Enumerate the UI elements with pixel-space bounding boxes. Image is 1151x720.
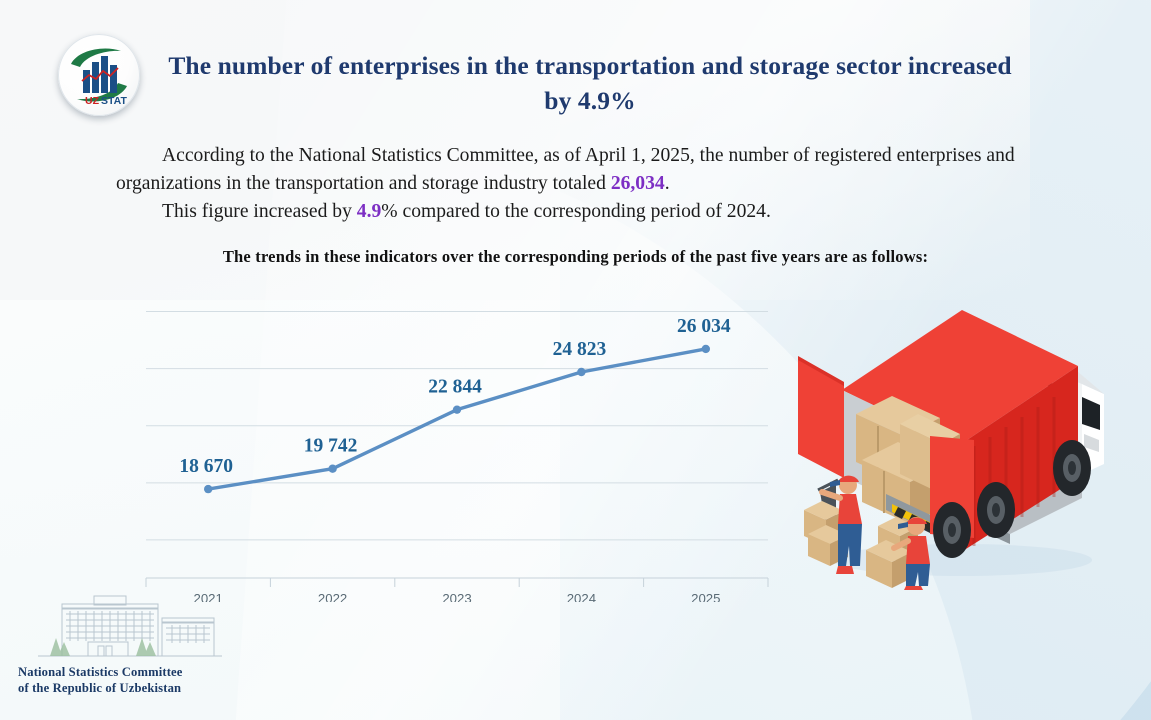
worker-carrying-box	[866, 517, 930, 590]
worker-1-shoes	[836, 566, 854, 574]
cargo-door-left	[798, 356, 844, 478]
logo-wordmark-stat: STAT	[101, 95, 127, 107]
worker-2-shoes	[904, 586, 923, 590]
trend-line-chart: 18 67019 74222 84424 82326 034 202120222…	[140, 292, 780, 602]
paragraph-line-1: According to the National Statistics Com…	[116, 142, 1051, 198]
growth-percent-value: 4.9	[357, 201, 382, 222]
truck-wheel-rear	[933, 502, 971, 558]
chart-data-label: 24 823	[553, 339, 607, 360]
footer-line-1: National Statistics Committee	[18, 664, 238, 680]
paragraph-text-b: .	[665, 173, 670, 194]
paragraph-text-d: % compared to the corresponding period o…	[381, 201, 771, 222]
chart-data-label: 19 742	[304, 436, 358, 457]
chart-gridlines	[146, 312, 768, 540]
committee-building-icon	[32, 592, 224, 664]
enterprise-count-value: 26,034	[611, 173, 665, 194]
chart-markers	[204, 345, 710, 494]
paragraph-text-a: According to the National Statistics Com…	[116, 145, 1015, 194]
worker-1-cap-brim	[830, 480, 840, 487]
truck-wheel-middle	[977, 482, 1015, 538]
uzstat-logo-graphic: UZ STAT	[58, 34, 140, 116]
footer-organisation-name: National Statistics Committee of the Rep…	[18, 664, 238, 696]
paragraph-text-c: This figure increased by	[162, 201, 357, 222]
logo-wordmark-uz: UZ	[85, 95, 100, 107]
uzstat-logo: UZ STAT	[58, 34, 140, 116]
delivery-truck-illustration	[782, 298, 1114, 590]
footer-line-2: of the Republic of Uzbekistan	[18, 680, 238, 696]
chart-x-axis-labels: 20212022202320242025	[194, 591, 721, 602]
worker-1-legs	[838, 524, 862, 566]
chart-data-labels: 18 67019 74222 84424 82326 034	[179, 316, 730, 477]
truck-svg	[782, 298, 1114, 590]
chart-data-label: 22 844	[428, 377, 482, 398]
chart-data-label: 26 034	[677, 316, 731, 337]
page-title: The number of enterprises in the transpo…	[155, 48, 1025, 118]
building-trees	[50, 638, 156, 656]
chart-x-label: 2023	[442, 591, 471, 602]
infographic-canvas: UZ STAT The number of enterprises in the…	[0, 0, 1151, 720]
chart-x-label: 2022	[318, 591, 347, 602]
chart-tick-marks	[146, 578, 768, 587]
summary-paragraph: According to the National Statistics Com…	[116, 142, 1051, 226]
chart-x-label: 2024	[567, 591, 596, 602]
truck-wheel-front	[1053, 440, 1091, 496]
worker-with-hand-truck	[804, 476, 862, 574]
paragraph-line-2: This figure increased by 4.9% compared t…	[116, 198, 1051, 226]
chart-subtitle: The trends in these indicators over the …	[0, 247, 1151, 267]
chart-svg: 18 67019 74222 84424 82326 034 202120222…	[140, 292, 780, 602]
chart-series-line	[208, 349, 706, 489]
chart-x-label: 2025	[691, 591, 720, 602]
footer: National Statistics Committee of the Rep…	[18, 592, 238, 704]
chart-data-label: 18 670	[179, 456, 233, 477]
